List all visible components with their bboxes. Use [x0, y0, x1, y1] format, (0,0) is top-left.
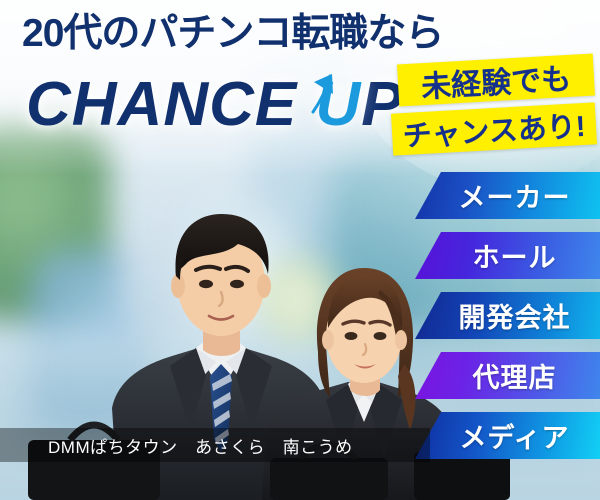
category-button-hall[interactable]: ホール	[415, 232, 600, 279]
page-title: 20代のパチンコ転職なら	[22, 14, 443, 53]
category-label: ホール	[459, 236, 557, 275]
category-label: 開発会社	[445, 296, 571, 335]
logo-accent-letter: U	[315, 74, 361, 136]
brand-logo: CHANCE UP	[26, 74, 404, 136]
promo-banner: 20代のパチンコ転職なら CHANCE UP 未経験でも チャンスあり! メーカ…	[0, 0, 600, 500]
category-button-media[interactable]: メディア	[415, 412, 600, 459]
logo-main-text: CHANCE	[26, 70, 315, 139]
badge-label: 未経験でも	[420, 54, 572, 106]
category-label: メディア	[445, 416, 569, 455]
category-list: メーカー ホール 開発会社 代理店 メディア	[415, 172, 600, 472]
caption-text: DMMぱちタウン あさくら 南こうめ	[0, 433, 353, 458]
category-label: 代理店	[459, 356, 557, 395]
category-button-agency[interactable]: 代理店	[415, 352, 600, 399]
caption-bar: DMMぱちタウン あさくら 南こうめ	[0, 428, 430, 462]
category-button-developer[interactable]: 開発会社	[415, 292, 600, 339]
category-label: メーカー	[445, 176, 571, 215]
category-button-maker[interactable]: メーカー	[415, 172, 600, 219]
